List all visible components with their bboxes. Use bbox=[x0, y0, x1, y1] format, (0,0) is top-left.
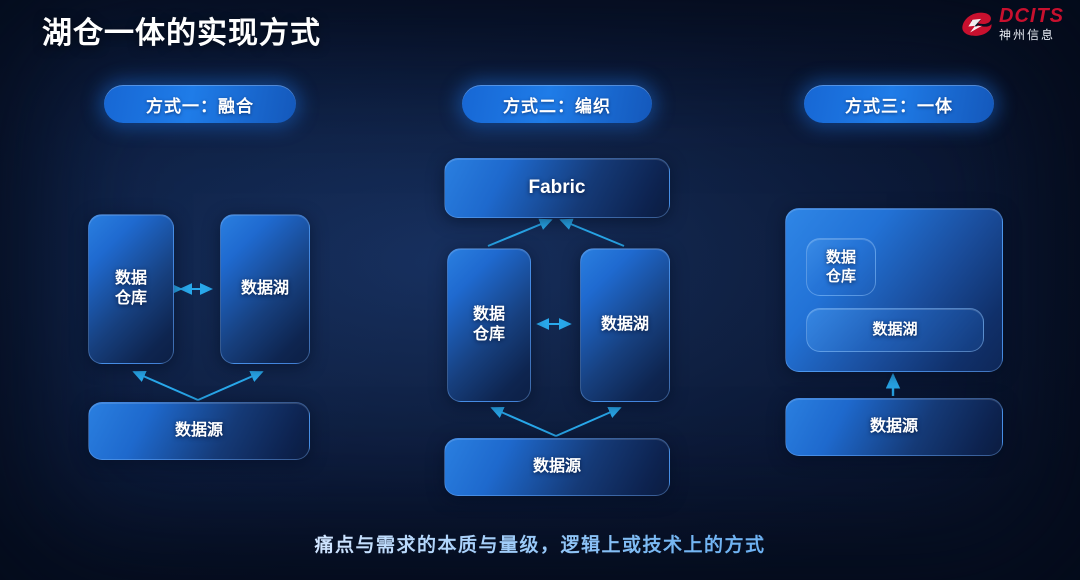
swoosh-logo-icon bbox=[959, 9, 993, 39]
c1-node-lake[interactable]: 数据湖 bbox=[220, 214, 310, 364]
c3-node-source[interactable]: 数据源 bbox=[785, 398, 1003, 456]
footer-caption: 痛点与需求的本质与量级，逻辑上或技术上的方式 bbox=[0, 530, 1080, 557]
c1-node-warehouse[interactable]: 数据仓库 bbox=[88, 214, 174, 364]
c2-source-arrows bbox=[492, 408, 620, 436]
c2-node-fabric[interactable]: Fabric bbox=[444, 158, 670, 218]
column-2-title-pill[interactable]: 方式二：编织 bbox=[462, 85, 652, 123]
page-title: 湖仓一体的实现方式 bbox=[42, 8, 321, 52]
logo-en-text: DCITS bbox=[999, 6, 1064, 26]
brand-logo: DCITS 神州信息 bbox=[959, 6, 1064, 41]
c1-source-arrows bbox=[134, 372, 262, 400]
c3-node-warehouse[interactable]: 数据仓库 bbox=[806, 238, 876, 296]
column-1-title-pill[interactable]: 方式一：融合 bbox=[104, 85, 296, 123]
c2-node-source[interactable]: 数据源 bbox=[444, 438, 670, 496]
c1-node-source[interactable]: 数据源 bbox=[88, 402, 310, 460]
c2-node-warehouse[interactable]: 数据仓库 bbox=[447, 248, 531, 402]
column-3-title-pill[interactable]: 方式三：一体 bbox=[804, 85, 994, 123]
c2-node-lake[interactable]: 数据湖 bbox=[580, 248, 670, 402]
slide-canvas: 湖仓一体的实现方式 DCITS 神州信息 bbox=[0, 0, 1080, 580]
c2-fabric-arrows bbox=[488, 220, 624, 246]
logo-cn-text: 神州信息 bbox=[999, 29, 1064, 41]
c3-node-lake[interactable]: 数据湖 bbox=[806, 308, 984, 352]
logo-wordmark: DCITS 神州信息 bbox=[999, 6, 1064, 41]
